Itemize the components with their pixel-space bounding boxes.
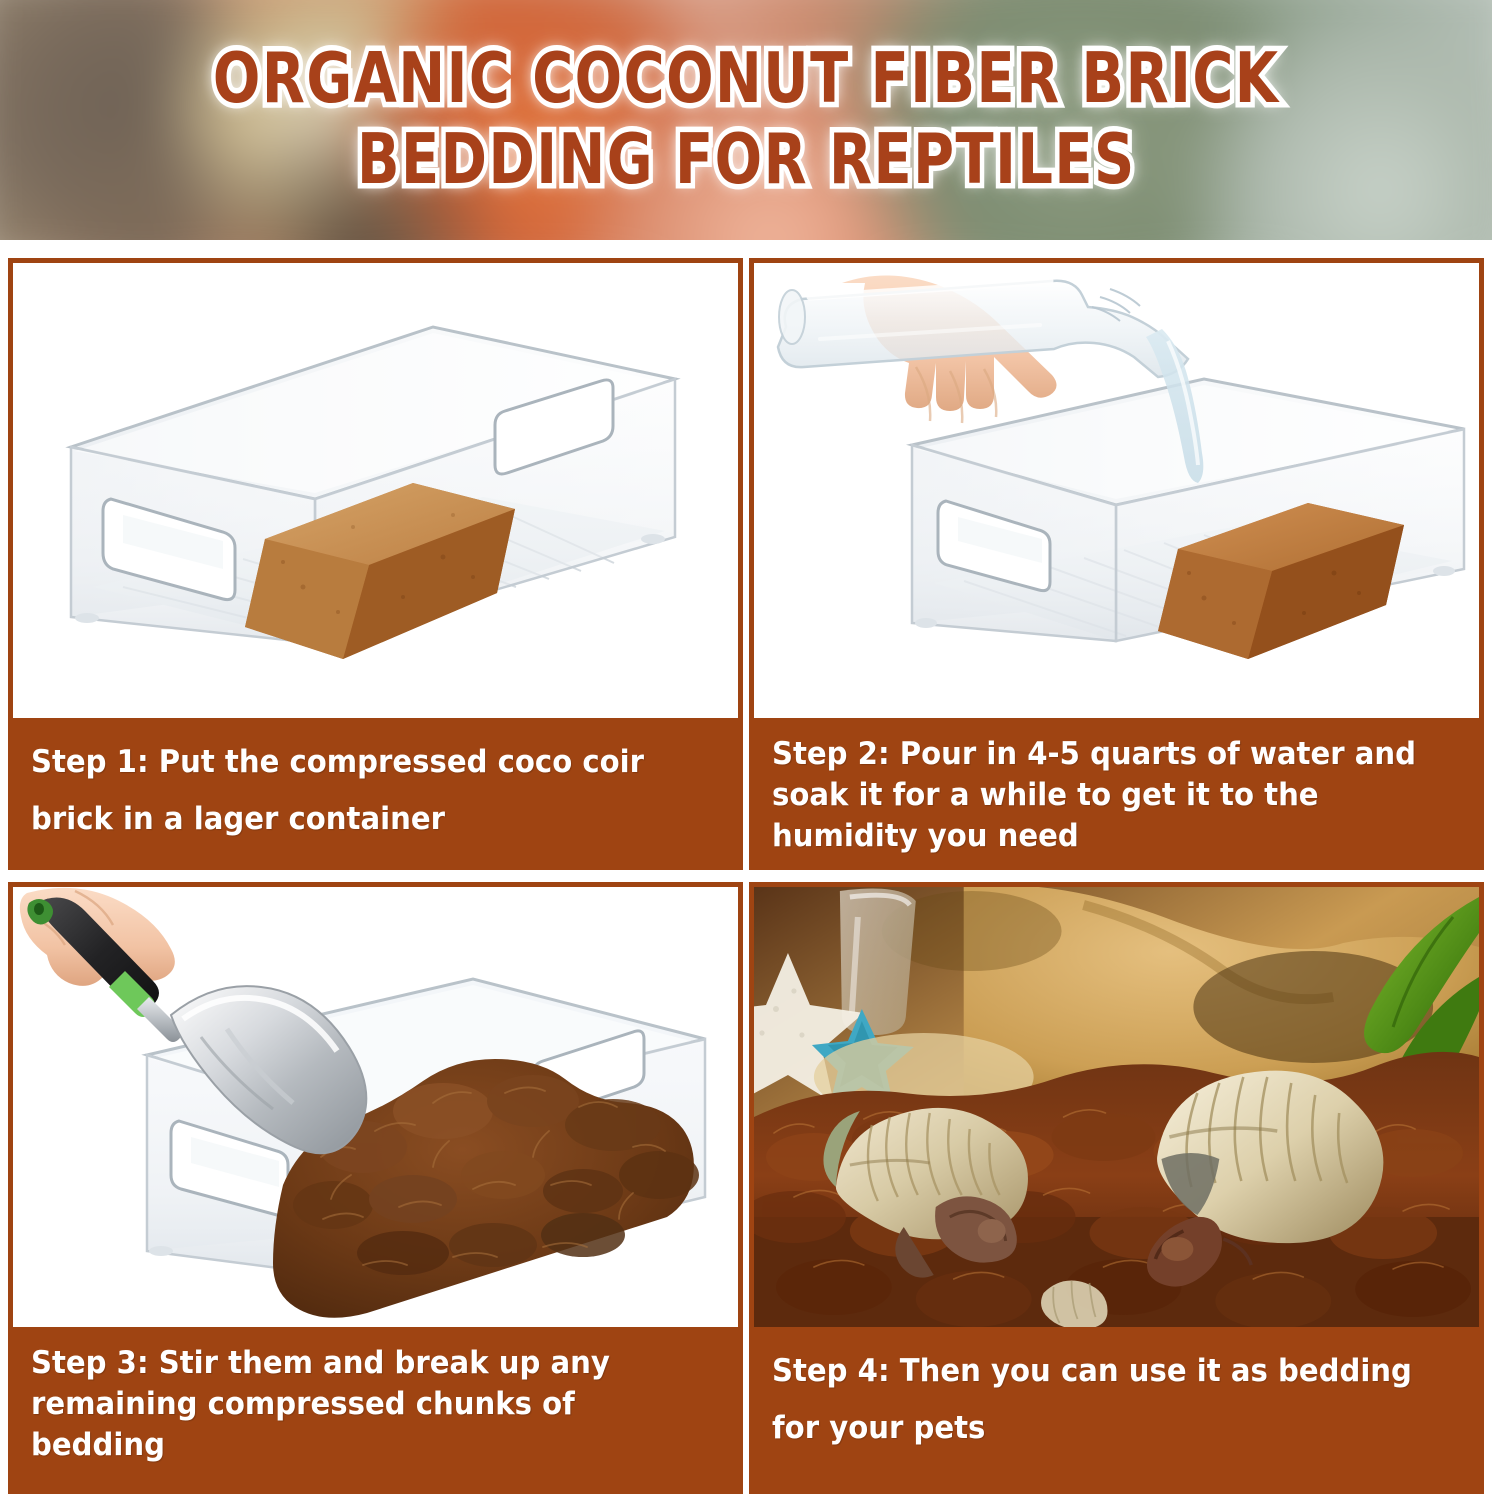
water-stream-shape (1146, 329, 1203, 483)
step-3-photo (13, 887, 738, 1327)
step-1-caption: Step 1: Put the compressed coco coir bri… (13, 718, 738, 865)
step-3-caption-line-2: remaining compressed chunks of (31, 1384, 679, 1425)
step-4-caption-line-2: for your pets (772, 1400, 1420, 1457)
title-line-1: ORGANIC COCONUT FIBER BRICK (213, 45, 1280, 115)
step-panel-2: Step 2: Pour in 4-5 quarts of water and … (749, 258, 1484, 870)
step-2-caption-line-2: soak it for a while to get it to the (772, 775, 1420, 816)
title-line-2: BEDDING FOR REPTILES (357, 126, 1136, 196)
step-4-caption-line-1: Step 4: Then you can use it as bedding (772, 1343, 1420, 1400)
step-3-caption-line-3: bedding (31, 1425, 679, 1466)
step-3-caption: Step 3: Stir them and break up any remai… (13, 1327, 738, 1489)
header-banner: ORGANIC COCONUT FIBER BRICK BEDDING FOR … (0, 0, 1492, 240)
step-2-caption-line-1: Step 2: Pour in 4-5 quarts of water and (772, 734, 1420, 775)
clear-storage-bin-icon (53, 287, 693, 687)
step-4-photo (754, 887, 1479, 1327)
page-title: ORGANIC COCONUT FIBER BRICK BEDDING FOR … (0, 0, 1492, 240)
step-4-caption: Step 4: Then you can use it as bedding f… (754, 1327, 1479, 1489)
hand-pouring-bottle-icon (764, 271, 1284, 491)
steps-grid: Step 1: Put the compressed coco coir bri… (8, 258, 1484, 1494)
step-panel-3: Step 3: Stir them and break up any remai… (8, 882, 743, 1494)
step-2-caption-line-3: humidity you need (772, 816, 1420, 857)
step-2-caption: Step 2: Pour in 4-5 quarts of water and … (754, 718, 1479, 868)
step-panel-4: Step 4: Then you can use it as bedding f… (749, 882, 1484, 1494)
step-1-photo (13, 263, 738, 718)
step-2-photo (754, 263, 1479, 718)
step-1-caption-line-1: Step 1: Put the compressed coco coir (31, 734, 679, 791)
trowel-blade-shape (171, 986, 366, 1153)
step-panel-1: Step 1: Put the compressed coco coir bri… (8, 258, 743, 870)
step-3-caption-line-1: Step 3: Stir them and break up any (31, 1343, 679, 1384)
step-1-caption-line-2: brick in a lager container (31, 791, 679, 848)
terrarium-scene-image (754, 887, 1479, 1327)
hand-with-trowel-icon (13, 887, 433, 1177)
